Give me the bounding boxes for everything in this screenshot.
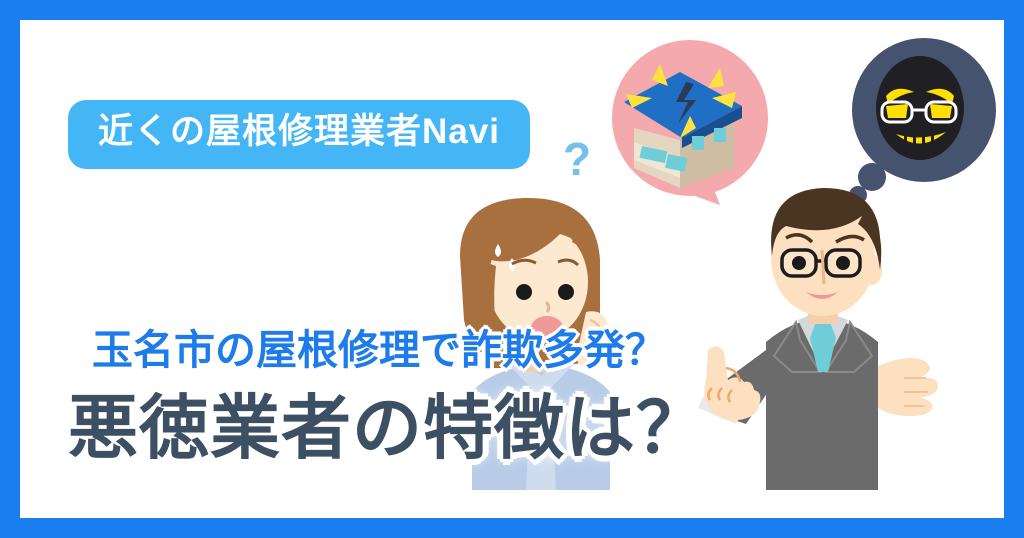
damaged-house-speech-bubble	[612, 40, 768, 205]
question-mark-decoration: ?	[563, 132, 591, 186]
banner-frame: ? 近くの屋根修理業者Navi 玉名市の屋根修理で詐欺多発？ 悪徳業者の特徴は？	[0, 0, 1024, 538]
pointing-businessman	[698, 188, 938, 490]
banner-inner: ? 近くの屋根修理業者Navi 玉名市の屋根修理で詐欺多発？ 悪徳業者の特徴は？	[20, 20, 1004, 518]
headline-subtitle: 玉名市の屋根修理で詐欺多発？	[92, 316, 666, 376]
sinister-face-icon	[876, 56, 964, 160]
site-badge[interactable]: 近くの屋根修理業者Navi	[68, 100, 530, 169]
shady-contractor-thought-bubble	[849, 38, 996, 204]
headline-title: 悪徳業者の特徴は？	[68, 372, 707, 473]
